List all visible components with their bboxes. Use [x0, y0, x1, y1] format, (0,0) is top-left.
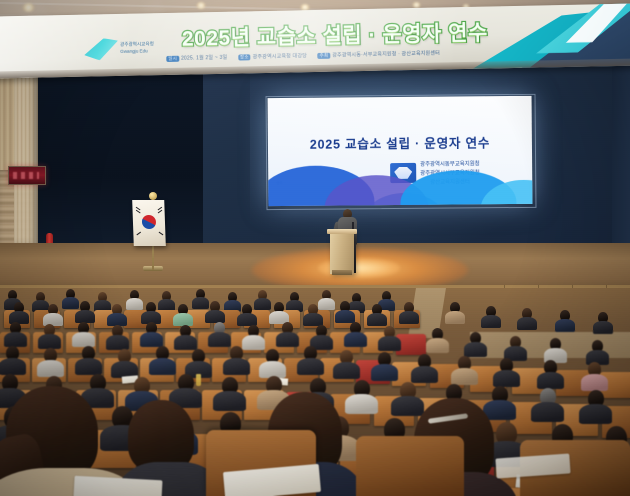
banner-subtitle-segment: 장소광주광역시교육청 대강당 — [238, 52, 307, 60]
swoosh-icon — [84, 38, 118, 61]
drink-bottle — [196, 374, 201, 386]
ceiling-light — [196, 2, 206, 9]
lectern-base — [332, 270, 352, 275]
stage-curtain — [28, 62, 203, 252]
handout-document — [73, 476, 162, 496]
projection-screen: 2025 교습소 설립 · 운영자 연수 광주광역시동부교육지원청 광주광역시서… — [268, 96, 533, 206]
banner-left-logo-text: 광주광역시교육청 Gwangju Edu — [120, 41, 162, 56]
banner-title: 2025년 교습소 설립 · 운영자 연수 — [182, 17, 488, 53]
lectern-podium — [330, 232, 354, 274]
wall-edge-right — [612, 62, 630, 257]
auditorium-photograph: 2025 교습소 설립 · 운영자 연수 광주광역시동부교육지원청 광주광역시서… — [0, 0, 630, 496]
wood-pillar — [14, 70, 38, 245]
south-korea-flag-icon — [132, 200, 166, 246]
slide-title: 2025 교습소 설립 · 운영자 연수 — [268, 132, 532, 153]
flag-finial — [149, 192, 157, 200]
lectern-top — [327, 229, 357, 234]
banner-chip: 장소 — [238, 54, 251, 60]
banner-subtitle-segment: 일시2025. 1월 2일 ~ 3일 — [166, 54, 227, 62]
banner-left-logo-icon: 광주광역시교육청 Gwangju Edu — [84, 31, 163, 67]
banner-subtitle-segment: 주최광주광역시동·서부교육지원청 · 광산교육지원센터 — [318, 49, 441, 58]
hall-banner: 광주광역시교육청 Gwangju Edu 2025년 교습소 설립 · 운영자 … — [0, 3, 630, 78]
taeguk-symbol — [142, 215, 156, 229]
banner-chip: 일시 — [166, 56, 179, 62]
banner-chip: 주최 — [318, 53, 331, 59]
emergency-exit-sign — [8, 166, 46, 185]
slide-org-line: 광주광역시동부교육지원청 — [420, 160, 480, 169]
ceiling-light — [22, 3, 35, 12]
